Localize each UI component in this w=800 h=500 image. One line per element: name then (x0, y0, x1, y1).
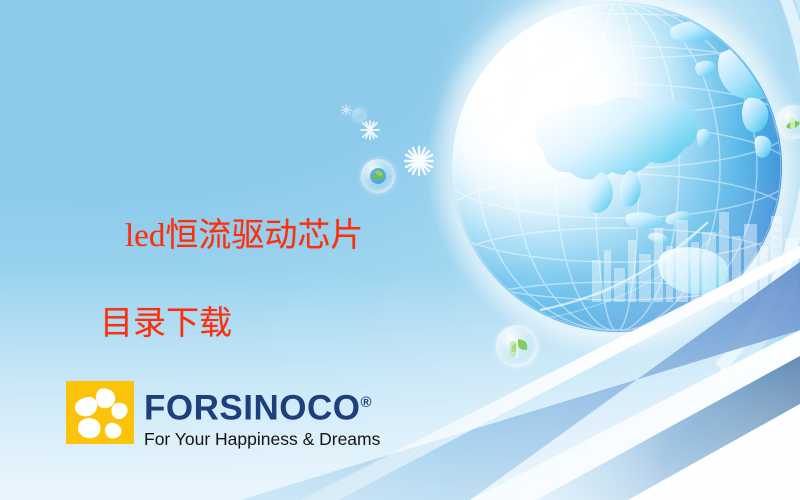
brand-name: FORSINOCO® (144, 385, 380, 427)
pinwheel-icon (66, 381, 134, 444)
brand-logo: FORSINOCO® For Your Happiness & Dreams (66, 381, 380, 450)
logo-text-block: FORSINOCO® For Your Happiness & Dreams (144, 381, 380, 450)
promo-poster: led恒流驱动芯片 目录下载 FORSINOCO® For Your Happi… (0, 0, 800, 500)
brand-name-word: FORSINOCO (144, 389, 360, 428)
brand-tagline: For Your Happiness & Dreams (144, 428, 380, 450)
headline-line-2: 目录下载 (92, 302, 363, 346)
headline-line-1: led恒流驱动芯片 (125, 218, 363, 254)
registered-trademark-icon: ® (360, 394, 372, 411)
